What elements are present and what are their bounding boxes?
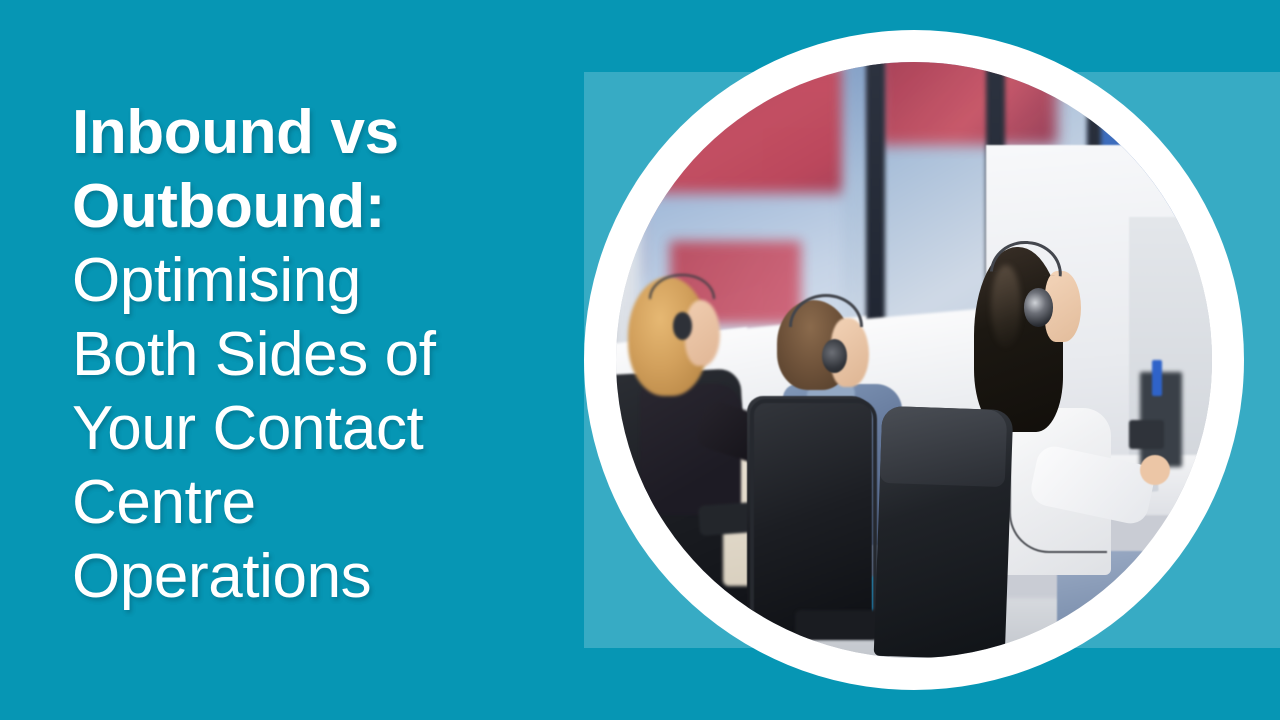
photo-content bbox=[616, 62, 1212, 658]
headline-line-7: Operations bbox=[72, 540, 592, 614]
slide-canvas: Inbound vs Outbound: Optimising Both Sid… bbox=[0, 0, 1280, 720]
headline-line-4: Both Sides of bbox=[72, 318, 592, 392]
agent-three-chair-headrest bbox=[880, 406, 1008, 488]
headline-line-1: Inbound vs bbox=[72, 96, 592, 170]
desk-pen bbox=[1152, 360, 1162, 396]
headline-line-6: Centre bbox=[72, 466, 592, 540]
agent-three-headset-earcup bbox=[1024, 288, 1053, 326]
headline-line-5: Your Contact bbox=[72, 392, 592, 466]
agent-two-chair-frame bbox=[750, 399, 877, 639]
contact-centre-photo bbox=[616, 62, 1212, 658]
headline-block: Inbound vs Outbound: Optimising Both Sid… bbox=[72, 96, 592, 614]
agent-three-headset-cable bbox=[1009, 420, 1106, 553]
agent-two-headset-earcup bbox=[822, 339, 847, 372]
desk-phone bbox=[1129, 420, 1165, 450]
headline-line-3: Optimising bbox=[72, 244, 592, 318]
background-display-banner bbox=[878, 62, 1057, 145]
agent-one-headset-earcup bbox=[673, 312, 692, 339]
headline-line-2: Outbound: bbox=[72, 170, 592, 244]
